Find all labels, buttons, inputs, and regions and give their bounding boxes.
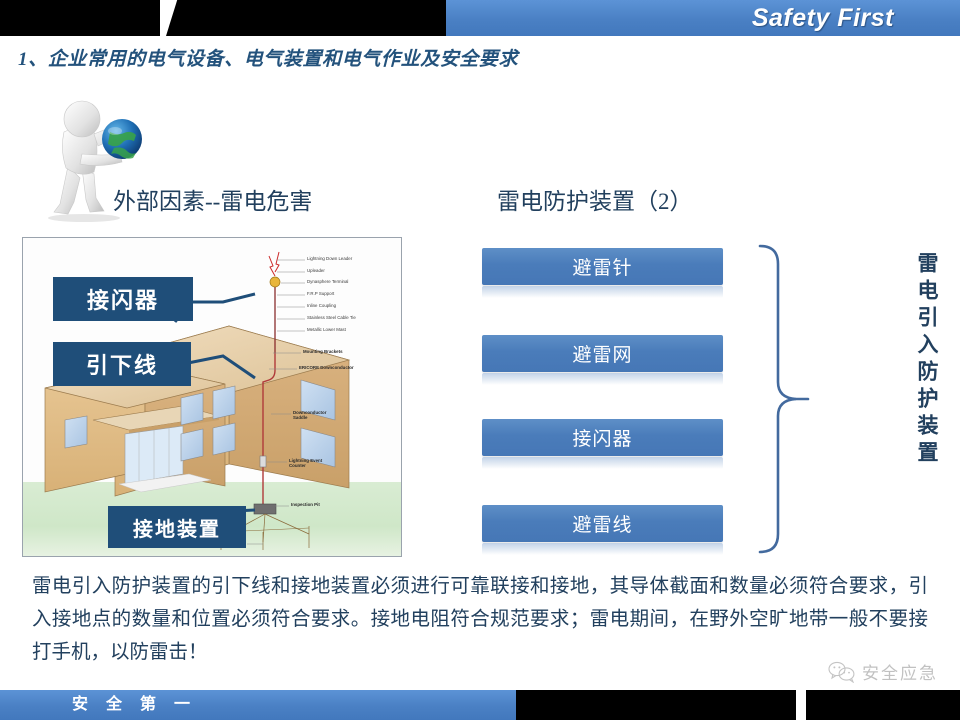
bar-item-air-terminal[interactable]: 接闪器 bbox=[482, 419, 723, 456]
bar-reflection-4 bbox=[482, 543, 723, 555]
callout-down-conductor: 引下线 bbox=[53, 342, 191, 386]
bar-item-lightning-mesh[interactable]: 避雷网 bbox=[482, 335, 723, 372]
annotation-ericore-downconductor: ERICORE Downconductor bbox=[299, 365, 354, 370]
curly-brace-icon bbox=[748, 240, 810, 558]
bar-reflection-1 bbox=[482, 286, 723, 298]
annotation-downconductor-saddle: Downconductor Saddle bbox=[293, 410, 337, 420]
annotation-lightning-down-leader: Lightning Down Leader bbox=[307, 256, 352, 261]
annotation-upleader: Upleader bbox=[307, 268, 325, 273]
annotation-stainless-steel-cable-tie: Stainless Steel Cable Tie bbox=[307, 315, 356, 320]
footer-black-block-2 bbox=[806, 690, 960, 720]
slide-root: Safety First 1、企业常用的电气设备、电气装置和电气作业及安全要求 bbox=[0, 0, 960, 720]
callout-air-terminal: 接闪器 bbox=[53, 277, 193, 321]
heading-external-factors: 外部因素--雷电危害 bbox=[113, 182, 312, 216]
annotation-inline-coupling: Inline Coupling bbox=[307, 303, 336, 308]
header-black-left-block bbox=[0, 0, 160, 36]
page-title: 1、企业常用的电气设备、电气装置和电气作业及安全要求 bbox=[18, 44, 518, 71]
footer-bar: 安 全 第 一 bbox=[0, 686, 960, 720]
vertical-label-lightning-protection-device: 雷电引入防护装置 bbox=[908, 252, 942, 468]
annotation-dynasphere-terminal: Dynasphere Terminal bbox=[307, 279, 348, 284]
wechat-icon bbox=[828, 661, 856, 683]
annotation-mounting-brackets: Mounting Brackets bbox=[303, 349, 343, 354]
annotation-inspection-pit: Inspection Pit bbox=[291, 502, 320, 507]
header-black-mid-block bbox=[166, 0, 446, 36]
annotation-frp-support: F.R.P Support bbox=[307, 291, 334, 296]
annotation-lightning-event-counter: Lightning Event Counter bbox=[289, 458, 329, 468]
footer-slogan: 安 全 第 一 bbox=[72, 690, 197, 720]
bar-item-lightning-rod[interactable]: 避雷针 bbox=[482, 248, 723, 285]
watermark-text: 安全应急 bbox=[862, 659, 938, 684]
bar-reflection-3 bbox=[482, 457, 723, 469]
annotation-metallic-lower-mast: Metallic Lower Mast bbox=[307, 327, 346, 332]
callout-earthing-device: 接地装置 bbox=[108, 506, 246, 548]
bar-reflection-2 bbox=[482, 373, 723, 385]
body-paragraph: 雷电引入防护装置的引下线和接地装置必须进行可靠联接和接地，其导体截面和数量必须符… bbox=[32, 570, 928, 669]
footer-black-block-1 bbox=[516, 690, 796, 720]
header-brand-title: Safety First bbox=[752, 2, 894, 34]
bar-item-lightning-wire[interactable]: 避雷线 bbox=[482, 505, 723, 542]
heading-lightning-protection: 雷电防护装置（2） bbox=[497, 182, 693, 216]
building-lightning-diagram: Lightning Down Leader Upleader Dynaspher… bbox=[22, 237, 402, 557]
header-bar: Safety First bbox=[0, 0, 960, 36]
watermark: 安全应急 bbox=[828, 659, 938, 684]
